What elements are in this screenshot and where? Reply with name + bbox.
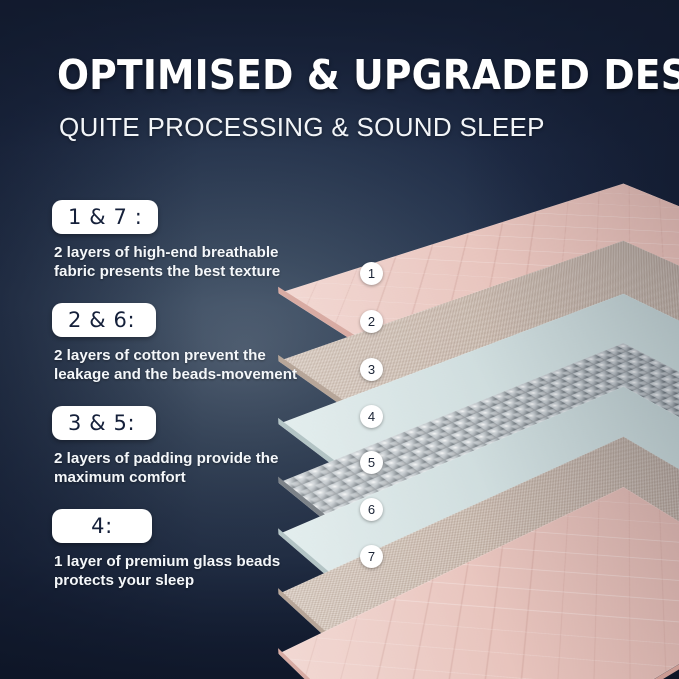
page-subtitle: QUITE PROCESSING & SOUND SLEEP (59, 112, 637, 142)
feature-pill-3: 3 & 5: (52, 406, 156, 440)
layer-stack-diagram (250, 120, 679, 679)
feature-item-4: 4: 1 layer of premium glass beads protec… (52, 509, 312, 590)
feature-pill-4: 4: (52, 509, 152, 543)
layer-badge-7[interactable]: 7 (360, 545, 383, 568)
feature-text-4: 1 layer of premium glass beads protects … (54, 552, 300, 590)
feature-item-2: 2 & 6: 2 layers of cotton prevent the le… (52, 303, 312, 384)
feature-pill-2: 2 & 6: (52, 303, 156, 337)
infographic-canvas: 1 2 3 4 5 6 7 OPTIMISED & UPGRADED DESIG… (0, 0, 679, 679)
layer-badge-3[interactable]: 3 (360, 358, 383, 381)
layer-badge-5[interactable]: 5 (360, 451, 383, 474)
feature-pill-1: 1 & 7 : (52, 200, 158, 234)
feature-text-2: 2 layers of cotton prevent the leakage a… (54, 346, 300, 384)
layer-badge-6[interactable]: 6 (360, 498, 383, 521)
feature-item-3: 3 & 5: 2 layers of padding provide the m… (52, 406, 312, 487)
layer-badge-4[interactable]: 4 (360, 405, 383, 428)
feature-list: 1 & 7 : 2 layers of high-end breathable … (52, 200, 312, 612)
layer-badge-2[interactable]: 2 (360, 310, 383, 333)
feature-text-1: 2 layers of high-end breathable fabric p… (54, 243, 300, 281)
header: OPTIMISED & UPGRADED DESIGN QUITE PROCES… (57, 52, 637, 142)
page-title: OPTIMISED & UPGRADED DESIGN (57, 52, 649, 98)
feature-text-3: 2 layers of padding provide the maximum … (54, 449, 300, 487)
layer-badge-1[interactable]: 1 (360, 262, 383, 285)
feature-item-1: 1 & 7 : 2 layers of high-end breathable … (52, 200, 312, 281)
